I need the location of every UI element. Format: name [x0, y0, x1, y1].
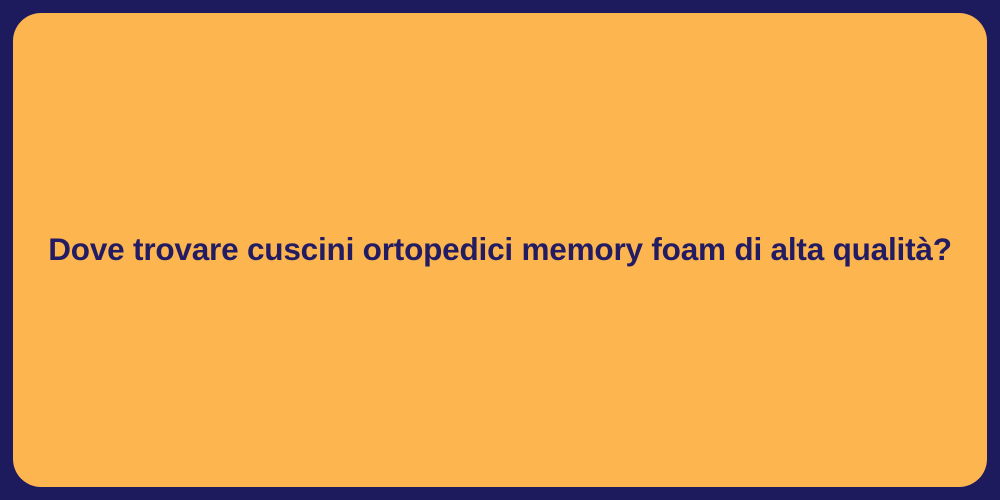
question-heading: Dove trovare cuscini ortopedici memory f… — [30, 231, 969, 268]
question-card-panel: Dove trovare cuscini ortopedici memory f… — [13, 13, 987, 487]
question-card-frame: Dove trovare cuscini ortopedici memory f… — [0, 0, 1000, 500]
